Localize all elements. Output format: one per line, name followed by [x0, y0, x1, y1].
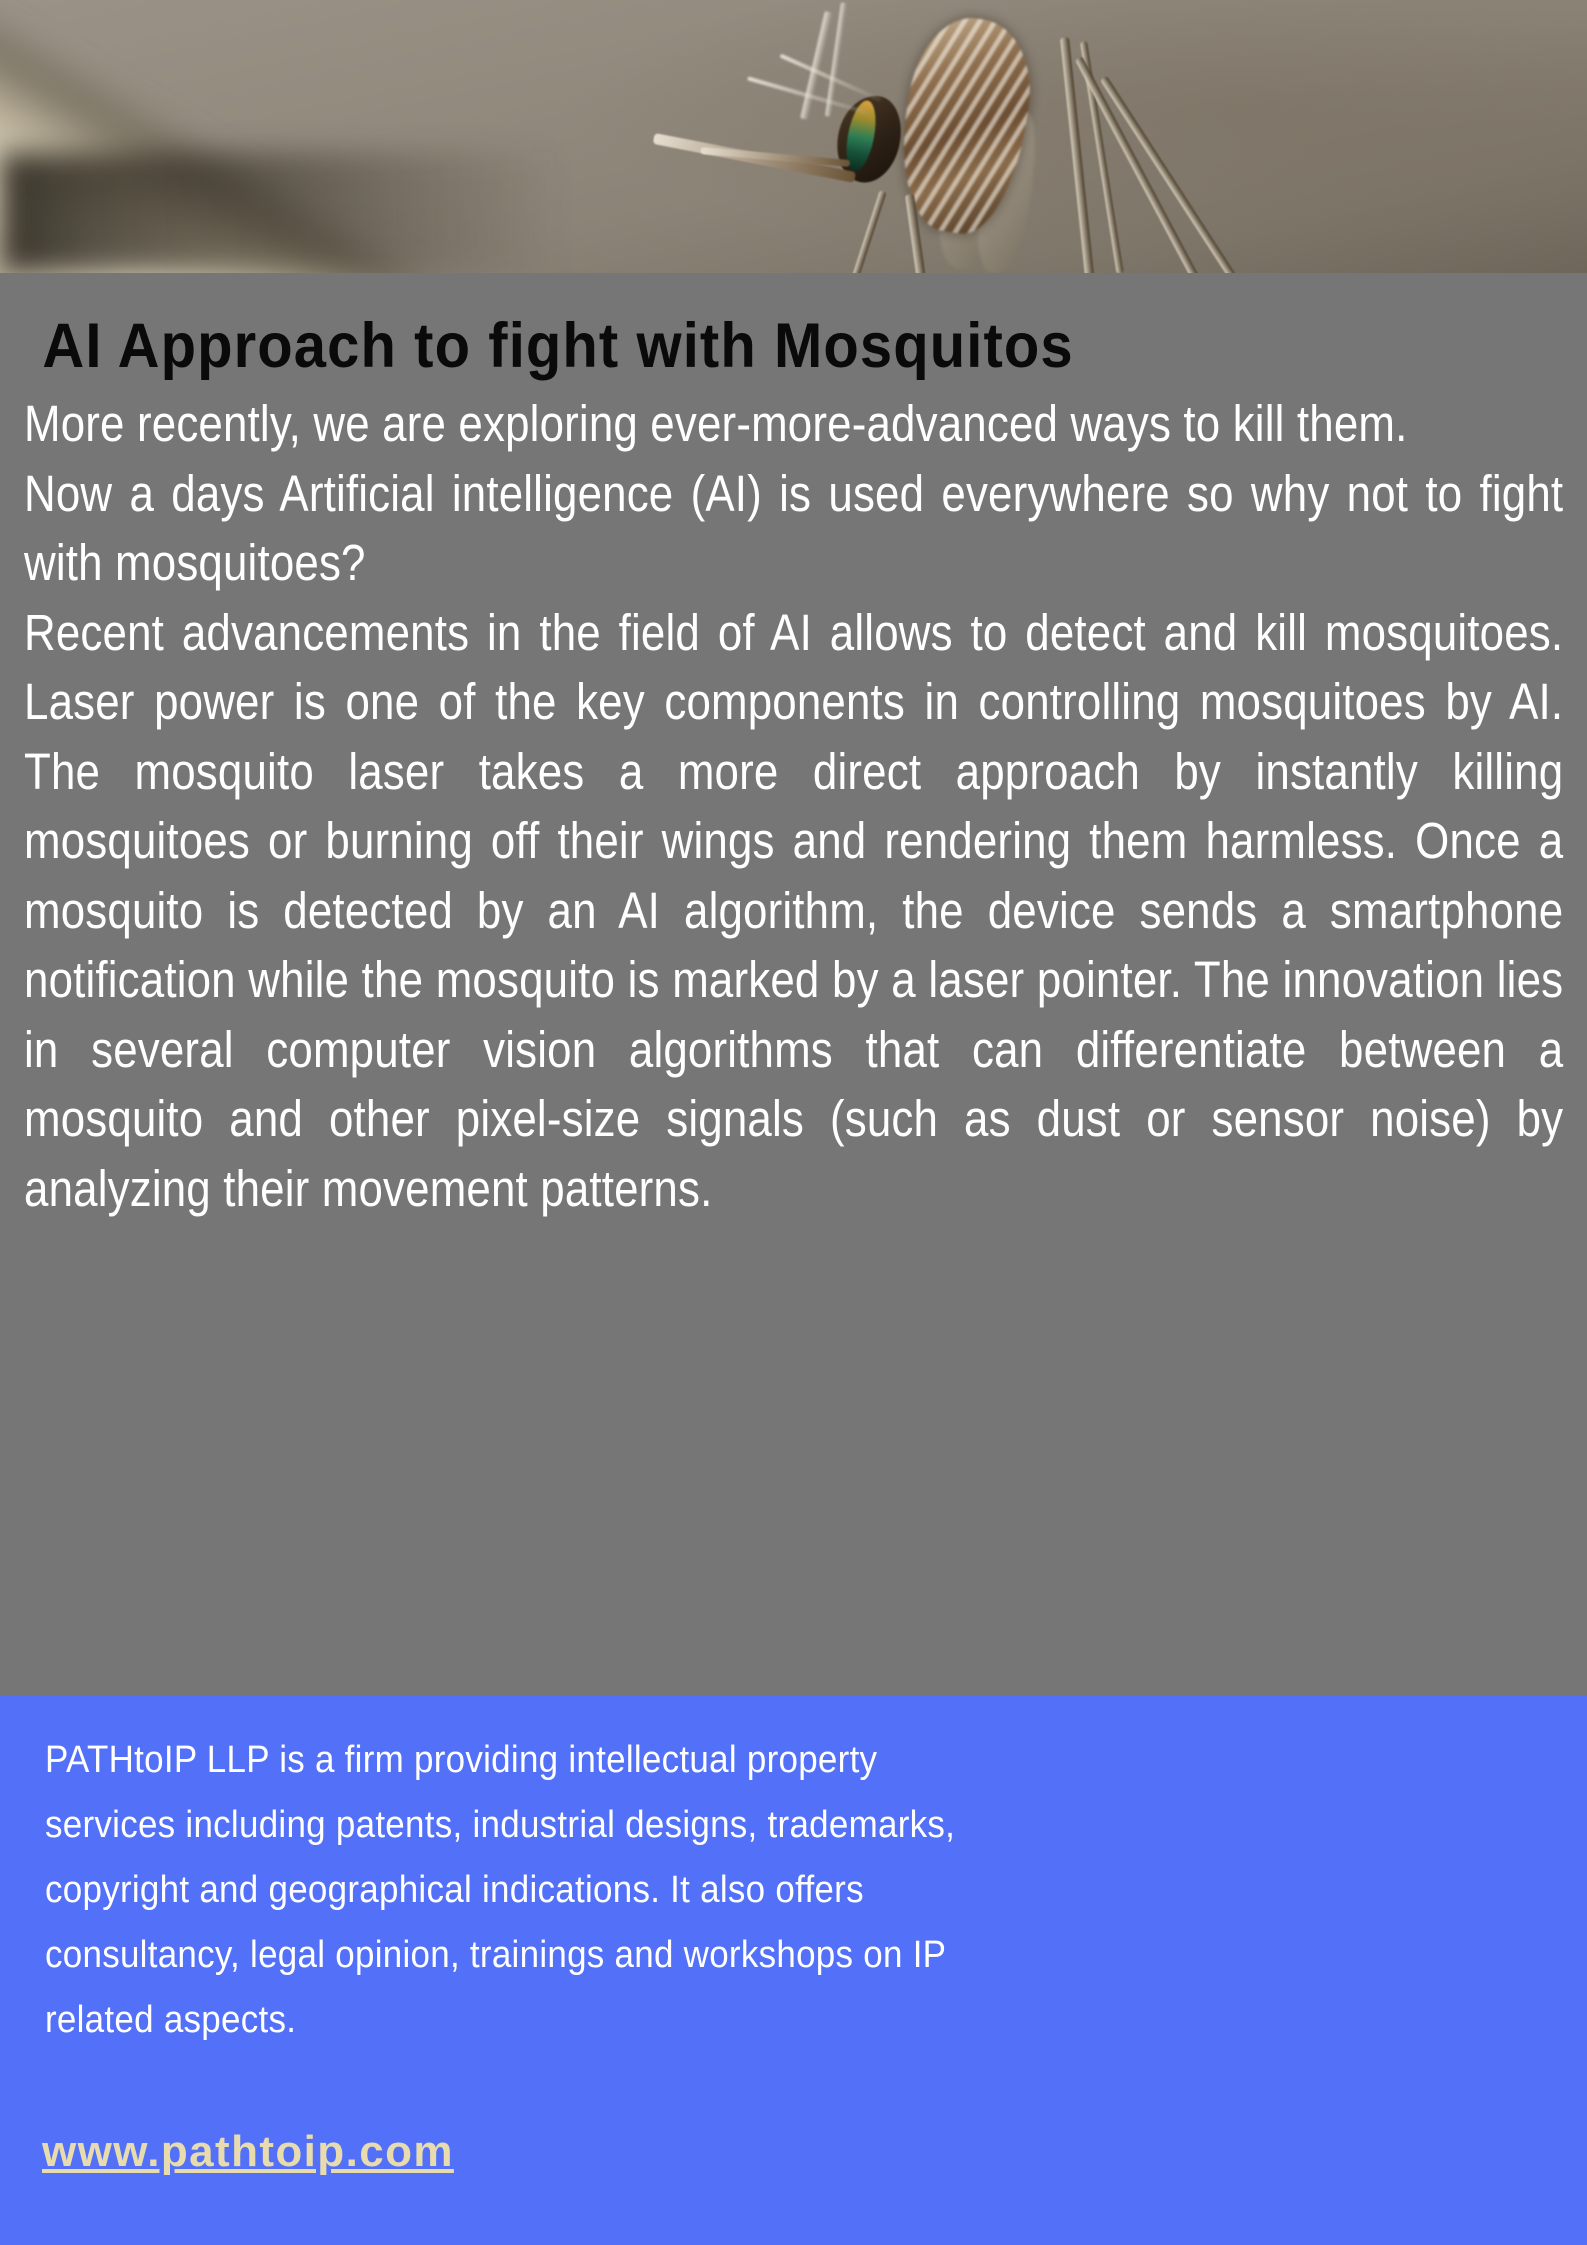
article-paragraph-1: More recently, we are exploring ever-mor… — [24, 389, 1563, 459]
article-paragraph-3: Recent advancements in the field of AI a… — [24, 598, 1563, 1224]
mosquito-macro-photo — [0, 0, 1587, 273]
page-title: AI Approach to fight with Mosquitos — [24, 273, 1440, 383]
website-link[interactable]: www.pathtoip.com — [42, 2127, 454, 2177]
footer-section: PATHtoIP LLP is a firm providing intelle… — [0, 1695, 1587, 2245]
photo-shadow — [0, 153, 560, 273]
article-section: AI Approach to fight with Mosquitos More… — [0, 273, 1587, 1695]
poster-root: AI Approach to fight with Mosquitos More… — [0, 0, 1587, 2245]
article-paragraph-2: Now a days Artificial intelligence (AI) … — [24, 459, 1563, 598]
company-description: PATHtoIP LLP is a firm providing intelle… — [45, 1728, 983, 2053]
